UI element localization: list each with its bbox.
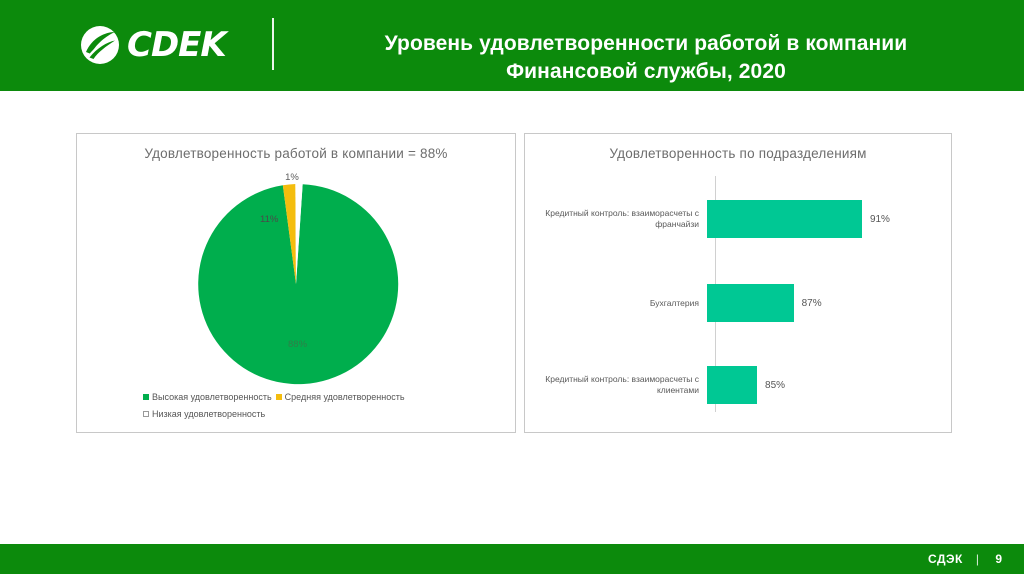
legend-row-2: Низкая удовлетворенность (143, 409, 501, 419)
bar-fill-2[interactable] (707, 284, 794, 322)
slide: CDEK Уровень удовлетворенности работой в… (0, 0, 1024, 574)
page-title-line-1: Уровень удовлетворенности работой в комп… (296, 30, 996, 58)
footer-brand-label: СДЭК (928, 552, 963, 566)
slide-footer: СДЭК | 9 (0, 544, 1024, 574)
bar-category-label-1: Кредитный контроль: взаиморасчеты с фран… (525, 208, 707, 230)
bar-category-label-1-line1: Кредитный контроль: взаиморасчеты с (545, 208, 699, 218)
footer-page-number: 9 (992, 552, 1002, 566)
bar-row-accounting[interactable]: Бухгалтерия 87% (525, 280, 951, 326)
bar-fill-3[interactable] (707, 366, 757, 404)
header-divider (272, 18, 274, 70)
pie-chart-legend: Высокая удовлетворенность Средняя удовле… (143, 392, 501, 426)
legend-item-low[interactable]: Низкая удовлетворенность (143, 409, 265, 419)
bar-track-3: 85% (707, 362, 951, 408)
pie-chart-plot: 1% 11% 88% (77, 172, 515, 386)
bar-value-label-1: 91% (870, 214, 890, 225)
footer-content: СДЭК | 9 (928, 544, 1002, 574)
bar-fill-1[interactable] (707, 200, 862, 238)
bar-track-2: 87% (707, 280, 951, 326)
pie-chart-panel: Удовлетворенность работой в компании = 8… (76, 133, 516, 433)
bar-category-label-1-line2: франчайзи (655, 219, 699, 229)
bar-chart-title: Удовлетворенность по подразделениям (525, 146, 951, 161)
legend-item-medium[interactable]: Средняя удовлетворенность (276, 392, 405, 402)
bar-track-1: 91% (707, 196, 951, 242)
legend-swatch-high-icon (143, 394, 149, 400)
slide-body: Удовлетворенность работой в компании = 8… (0, 91, 1024, 544)
pie-data-label-low: 1% (285, 172, 299, 183)
page-title-line-2: Финансовой службы, 2020 (296, 58, 996, 86)
page-title: Уровень удовлетворенности работой в комп… (296, 30, 996, 86)
pie-chart-graphic (190, 178, 402, 390)
bar-chart-panel: Удовлетворенность по подразделениям Кред… (524, 133, 952, 433)
legend-row-1: Высокая удовлетворенность Средняя удовле… (143, 392, 501, 402)
bar-chart-plot: Кредитный контроль: взаиморасчеты с фран… (525, 170, 951, 424)
slide-header: CDEK Уровень удовлетворенности работой в… (0, 0, 1024, 91)
legend-item-high[interactable]: Высокая удовлетворенность (143, 392, 272, 402)
legend-label-medium: Средняя удовлетворенность (285, 392, 405, 402)
bar-category-label-2: Бухгалтерия (525, 298, 707, 309)
cdek-logo-text: CDEK (127, 28, 226, 62)
bar-category-label-3-line1: Кредитный контроль: взаиморасчеты с (545, 374, 699, 384)
bar-category-label-3: Кредитный контроль: взаиморасчеты с клие… (525, 374, 707, 396)
pie-data-label-high: 88% (288, 339, 307, 350)
legend-swatch-medium-icon (276, 394, 282, 400)
pie-data-label-medium: 11% (260, 214, 278, 225)
legend-swatch-low-icon (143, 411, 149, 417)
bar-category-label-2-line1: Бухгалтерия (650, 298, 699, 308)
bar-row-credit-control-franchise[interactable]: Кредитный контроль: взаиморасчеты с фран… (525, 196, 951, 242)
bar-row-credit-control-clients[interactable]: Кредитный контроль: взаиморасчеты с клие… (525, 362, 951, 408)
cdek-logo: CDEK (80, 20, 226, 70)
cdek-emblem-icon (80, 25, 120, 65)
legend-label-high: Высокая удовлетворенность (152, 392, 272, 402)
bar-category-label-3-line2: клиентами (657, 385, 699, 395)
pie-chart-title: Удовлетворенность работой в компании = 8… (77, 146, 515, 161)
bar-value-label-2: 87% (802, 298, 822, 309)
bar-value-label-3: 85% (765, 380, 785, 391)
footer-separator: | (976, 552, 979, 566)
legend-label-low: Низкая удовлетворенность (152, 409, 265, 419)
